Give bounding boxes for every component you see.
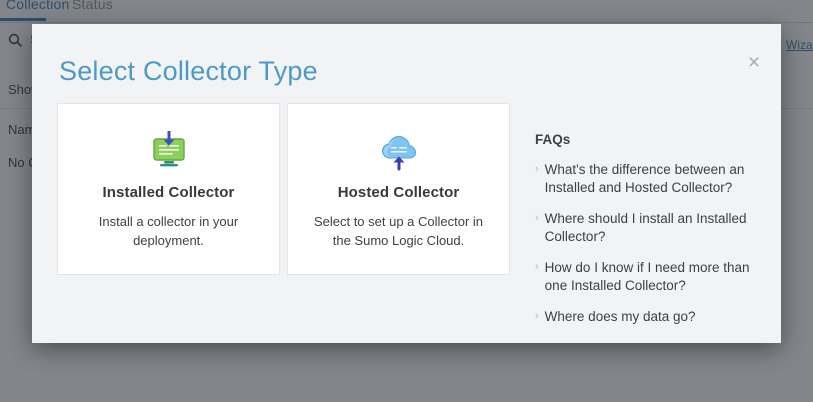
faq-panel: FAQs › What's the difference between an … bbox=[535, 132, 755, 339]
faq-item-data-destination[interactable]: › Where does my data go? bbox=[535, 308, 755, 326]
chevron-right-icon: › bbox=[535, 259, 539, 276]
chevron-right-icon: › bbox=[535, 161, 539, 178]
hosted-collector-description: Select to set up a Collector in the Sumo… bbox=[309, 212, 489, 250]
faq-item-label: Where should I install an Installed Coll… bbox=[545, 210, 755, 246]
close-icon[interactable]: × bbox=[743, 52, 765, 74]
faq-item-difference[interactable]: › What's the difference between an Insta… bbox=[535, 161, 755, 197]
installed-collector-card[interactable]: Installed Collector Install a collector … bbox=[57, 103, 280, 275]
faq-item-label: How do I know if I need more than one In… bbox=[545, 259, 755, 295]
modal-body: Installed Collector Install a collector … bbox=[32, 103, 781, 343]
hosted-collector-card[interactable]: Hosted Collector Select to set up a Coll… bbox=[287, 103, 510, 275]
installed-collector-title: Installed Collector bbox=[103, 184, 235, 201]
cloud-upload-icon bbox=[374, 128, 424, 174]
chevron-right-icon: › bbox=[535, 210, 539, 227]
collector-type-cards: Installed Collector Install a collector … bbox=[57, 103, 510, 275]
installed-collector-description: Install a collector in your deployment. bbox=[79, 212, 259, 250]
faq-item-how-many[interactable]: › How do I know if I need more than one … bbox=[535, 259, 755, 295]
select-collector-type-modal: × Select Collector Type bbox=[32, 24, 781, 343]
faq-item-label: What's the difference between an Install… bbox=[545, 161, 755, 197]
page-title: Select Collector Type bbox=[59, 56, 318, 87]
faq-heading: FAQs bbox=[535, 132, 755, 147]
faq-item-label: Where does my data go? bbox=[545, 308, 696, 326]
monitor-download-icon bbox=[144, 128, 194, 174]
faq-item-where-install[interactable]: › Where should I install an Installed Co… bbox=[535, 210, 755, 246]
chevron-right-icon: › bbox=[535, 308, 539, 325]
hosted-collector-title: Hosted Collector bbox=[338, 184, 460, 201]
